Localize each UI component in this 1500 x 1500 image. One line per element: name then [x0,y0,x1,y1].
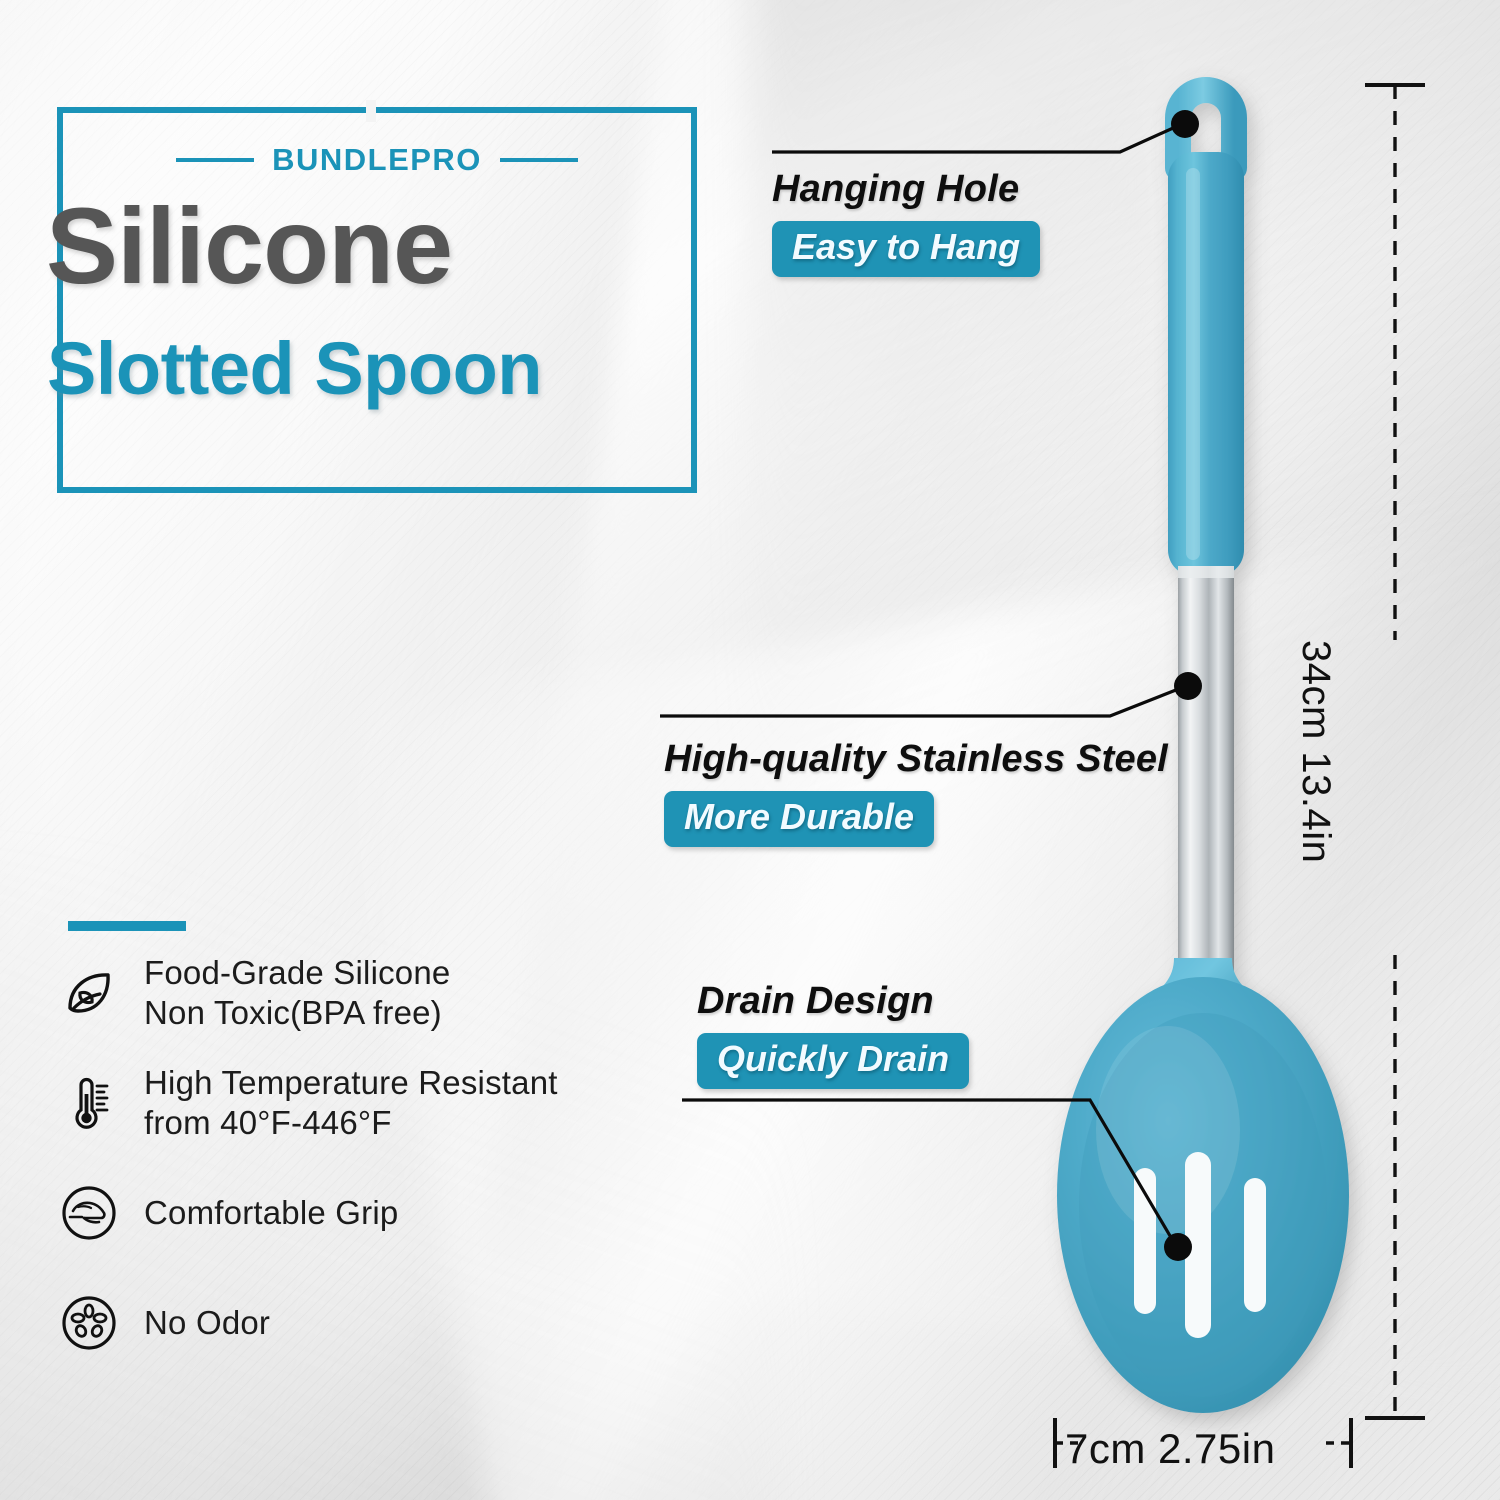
no-odor-icon [58,1292,120,1354]
feature-item-no-odor: No Odor [58,1280,678,1366]
feature-line-1: High Temperature Resistant [144,1064,558,1101]
feature-label: Comfortable Grip [144,1193,398,1233]
callout-title: High-quality Stainless Steel [664,738,1168,781]
feature-list-rule [68,921,186,931]
brand-rule-left [176,158,254,162]
leaf-icon [58,962,120,1024]
page-subtitle: Slotted Spoon [47,332,727,406]
feature-item-food-grade: Food-Grade Silicone Non Toxic(BPA free) [58,950,678,1036]
callout-hanging-hole: Hanging Hole Easy to Hang [772,168,1040,277]
feature-line-1: Food-Grade Silicone [144,954,450,991]
feature-label: Food-Grade Silicone Non Toxic(BPA free) [144,953,450,1034]
callout-drain-design: Drain Design Quickly Drain [697,980,969,1089]
brand-row: BUNDLEPRO [57,138,697,182]
thermometer-icon [58,1072,120,1134]
feature-line-2: from 40°F-446°F [144,1104,392,1141]
dimension-label-width: 7cm 2.75in [1065,1425,1275,1473]
product-infographic: BUNDLEPRO Silicone Slotted Spoon Food-Gr… [0,0,1500,1500]
feature-item-heat-resistant: High Temperature Resistant from 40°F-446… [58,1060,678,1146]
feature-item-comfortable-grip: Comfortable Grip [58,1170,678,1256]
callout-badge: Quickly Drain [697,1033,969,1089]
feature-list: Food-Grade Silicone Non Toxic(BPA free) [58,950,678,1390]
feature-line-2: Non Toxic(BPA free) [144,994,442,1031]
brand-name: BUNDLEPRO [272,142,482,178]
dimension-label-length: 34cm 13.4in [1293,640,1338,960]
page-title: Silicone [46,192,706,300]
callout-stainless-steel: High-quality Stainless Steel More Durabl… [664,738,1168,847]
feature-label: No Odor [144,1303,270,1343]
callout-badge: More Durable [664,791,934,847]
feature-label: High Temperature Resistant from 40°F-446… [144,1063,558,1144]
callout-badge: Easy to Hang [772,221,1040,277]
callout-title: Hanging Hole [772,168,1040,211]
hand-grip-icon [58,1182,120,1244]
title-frame-notch [366,100,376,122]
brand-rule-right [500,158,578,162]
callout-title: Drain Design [697,980,969,1023]
